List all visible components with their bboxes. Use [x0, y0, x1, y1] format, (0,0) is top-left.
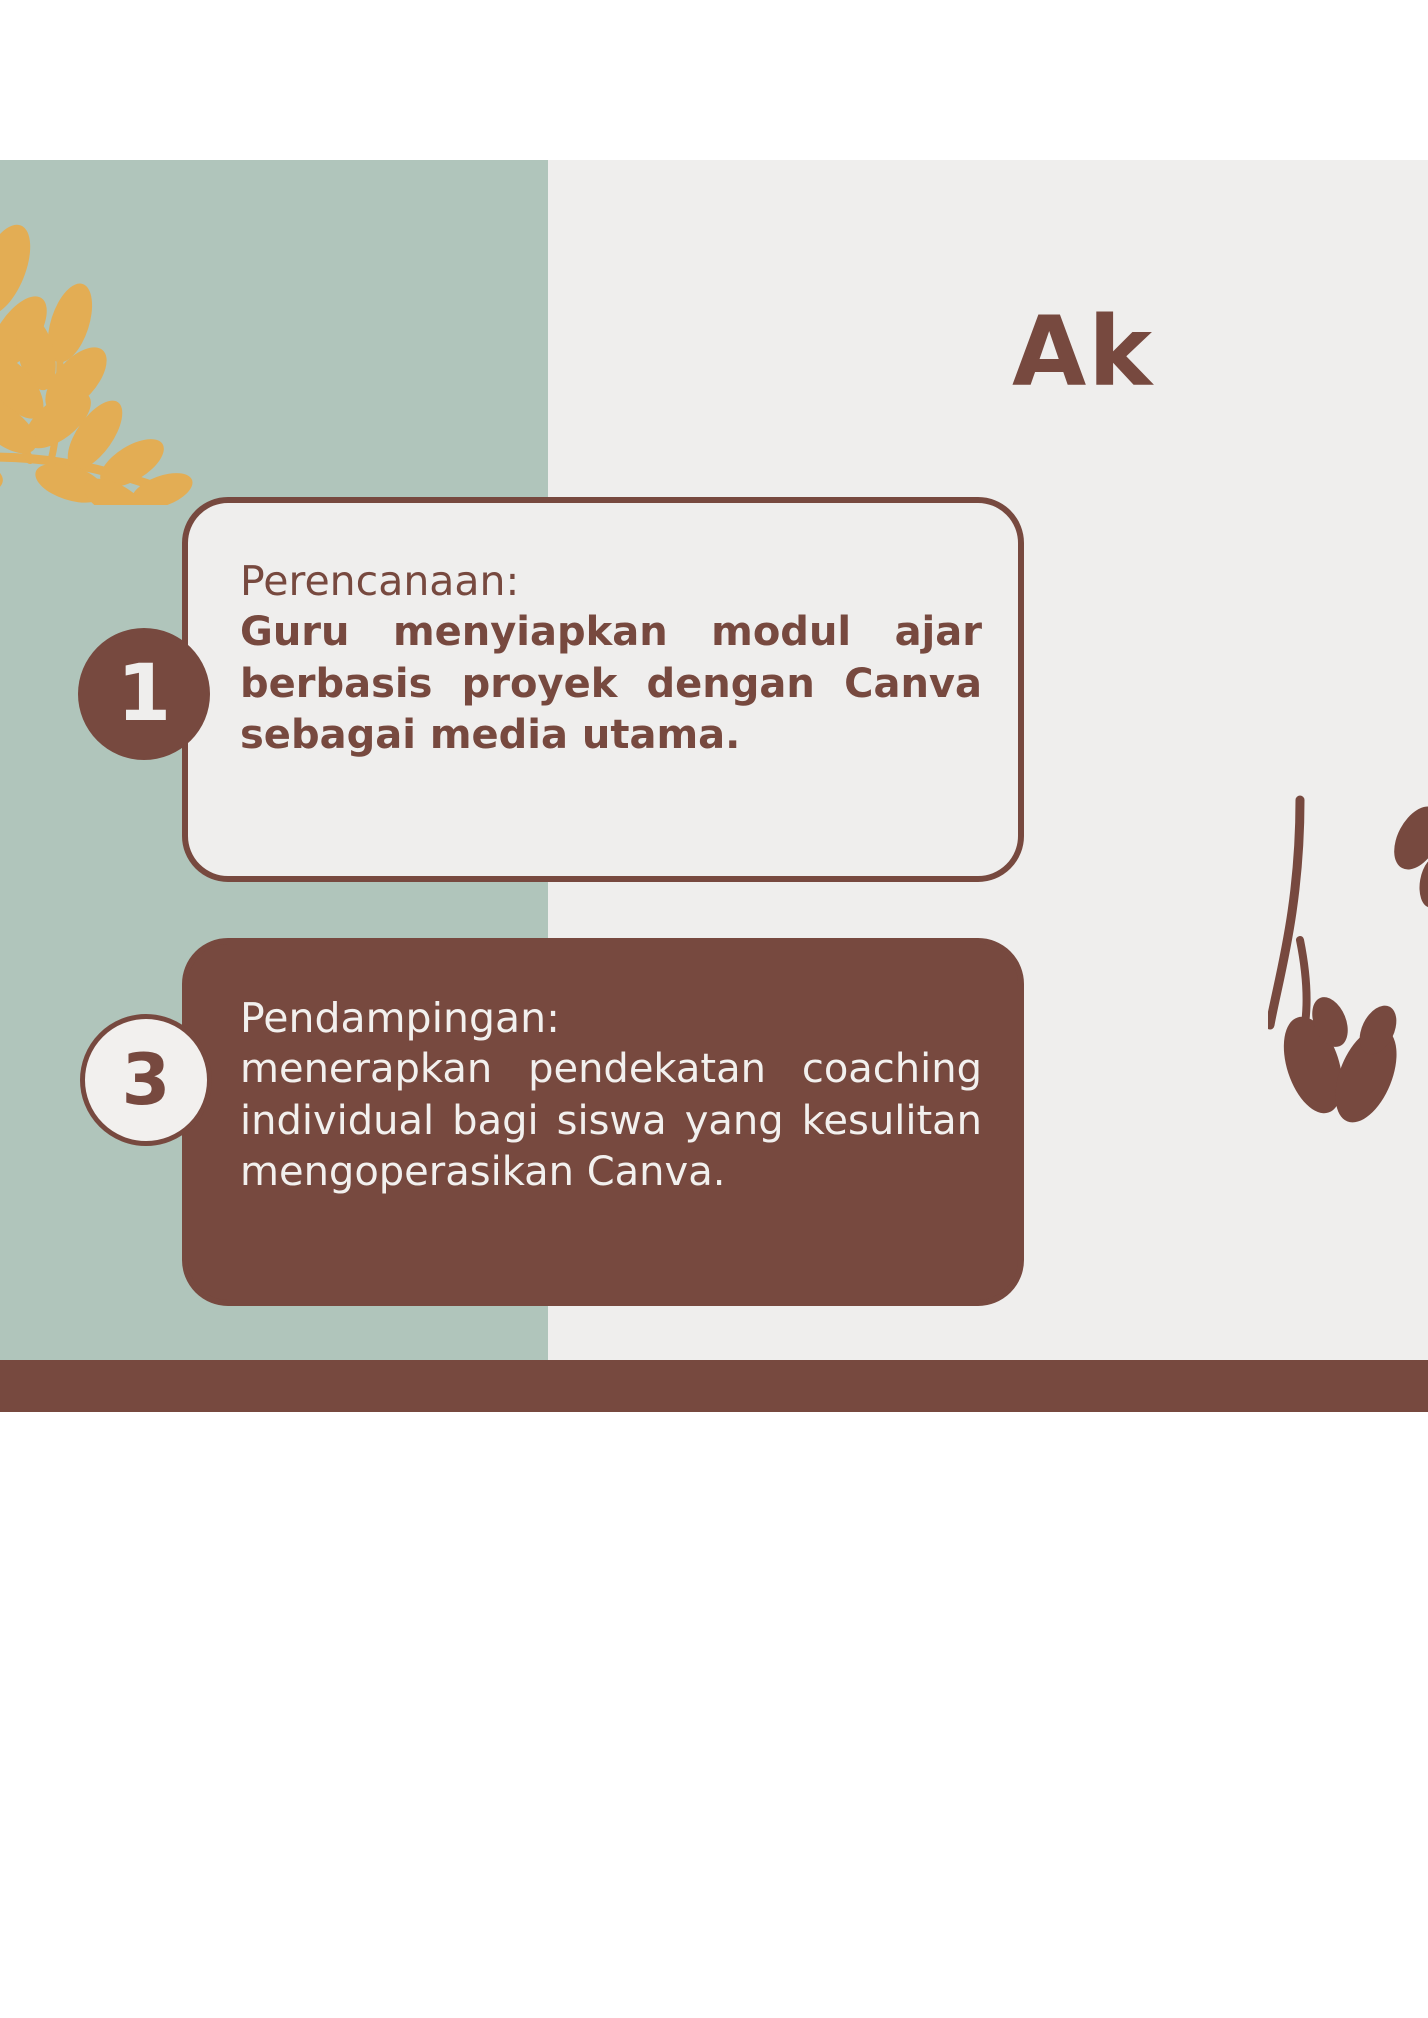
step-card-1-text: Guru menyiapkan modul ajar berbasis proy… — [240, 607, 982, 761]
step-card-3-text: menerapkan pendekatan coaching individua… — [240, 1044, 982, 1198]
step-card-1-body: Perencanaan: Guru menyiapkan modul ajar … — [240, 557, 982, 761]
page-title: Ak — [1012, 296, 1154, 408]
footer-bar — [0, 1360, 1428, 1412]
step-card-1-title: Perencanaan: — [240, 557, 982, 605]
step-card-3: Pendampingan: menerapkan pendekatan coac… — [182, 938, 1024, 1306]
butterfly-icon — [1268, 790, 1428, 1190]
step-card-3-title: Pendampingan: — [240, 994, 982, 1042]
step-card-1: Perencanaan: Guru menyiapkan modul ajar … — [182, 497, 1024, 882]
step-number-badge-1: 1 — [78, 628, 210, 760]
leaf-branch-icon — [0, 215, 250, 505]
step-card-3-body: Pendampingan: menerapkan pendekatan coac… — [240, 994, 982, 1198]
poster-canvas: Ak Perencanaan: Guru menyiapkan modul aj… — [0, 0, 1428, 2018]
step-number-badge-3: 3 — [80, 1014, 212, 1146]
